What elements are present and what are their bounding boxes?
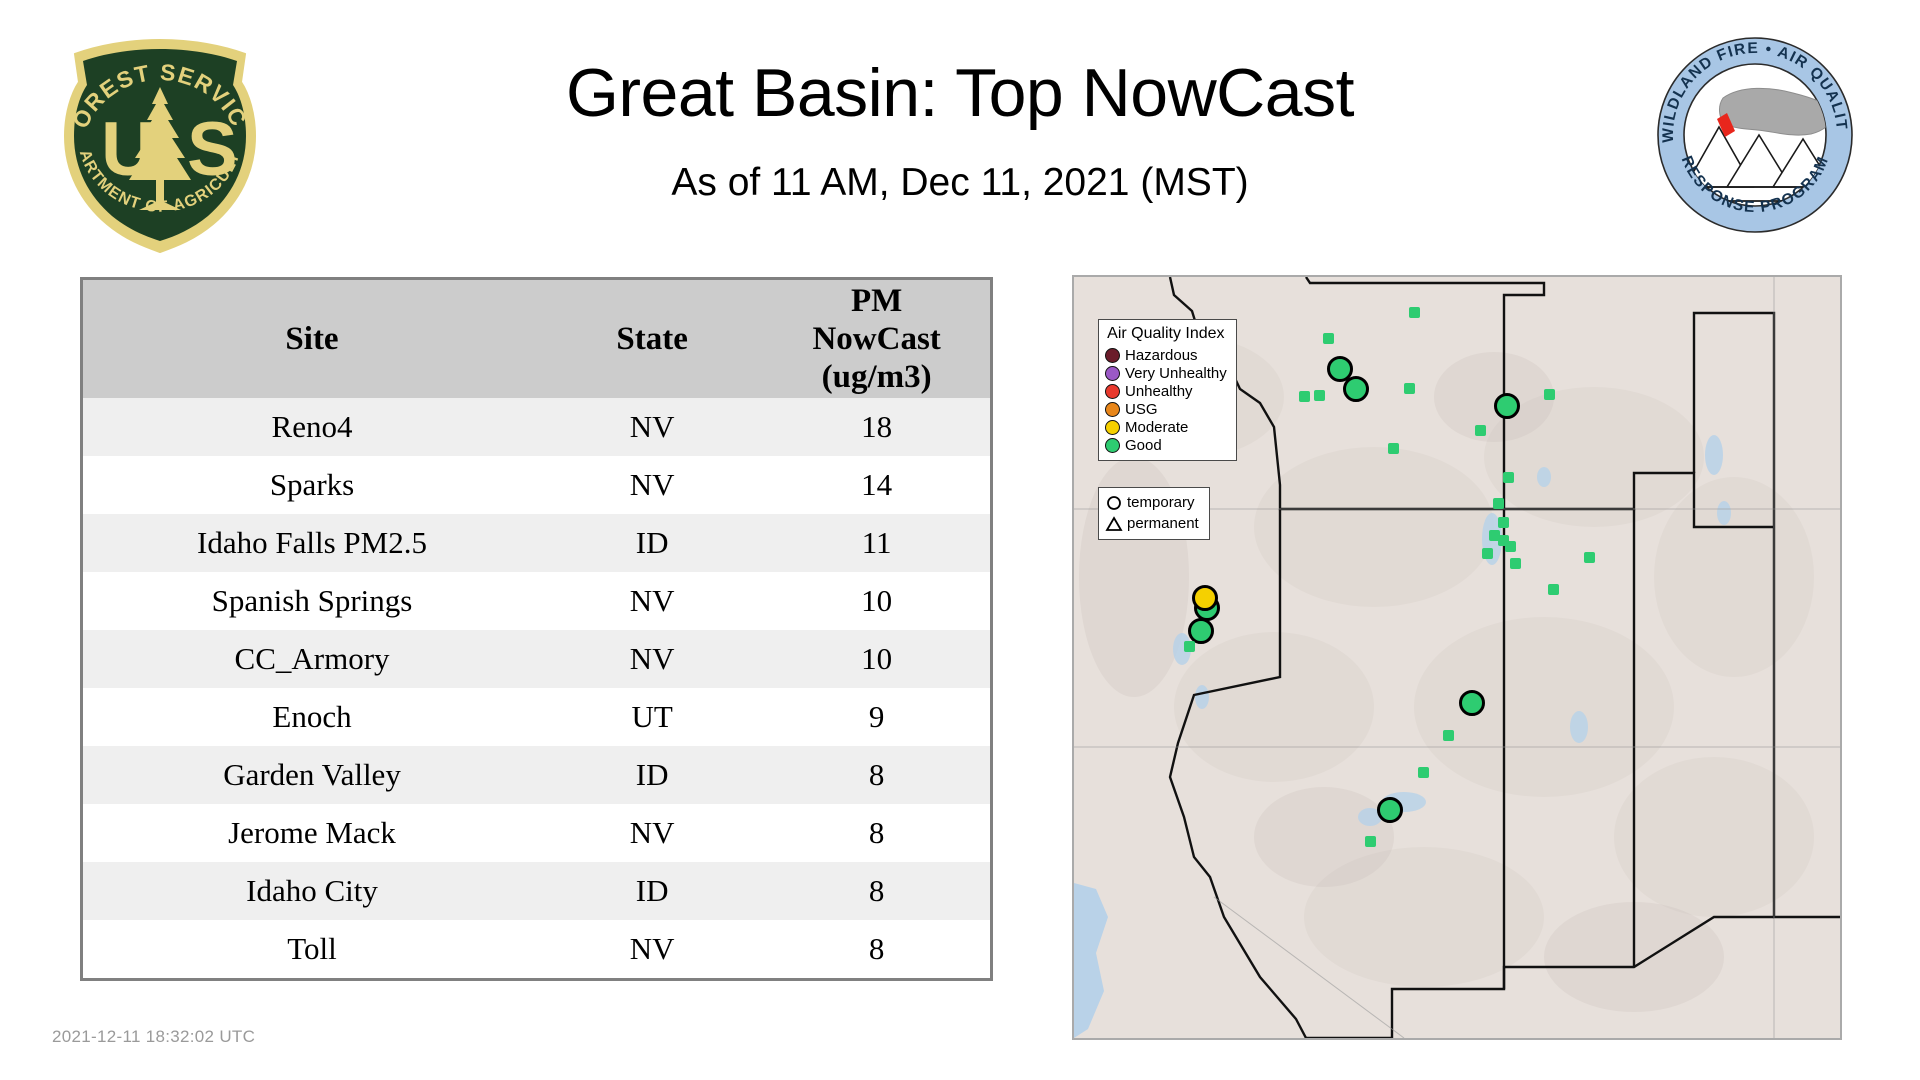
- wildland-fire-air-quality-logo: WILDLAND FIRE • AIR QUALITY RESPONSE PRO…: [1655, 35, 1855, 235]
- table-cell-state: ID: [541, 862, 763, 920]
- aqi-legend-row: Very Unhealthy: [1105, 364, 1227, 382]
- map-monitor-marker[interactable]: [1503, 472, 1514, 483]
- map-monitor-marker[interactable]: [1494, 393, 1520, 419]
- map-monitor-marker[interactable]: [1498, 517, 1509, 528]
- table-cell-state: NV: [541, 572, 763, 630]
- column-header-site: Site: [83, 280, 541, 398]
- table-cell-state: ID: [541, 514, 763, 572]
- table-cell-site: Sparks: [83, 456, 541, 514]
- column-header-state: State: [541, 280, 763, 398]
- table-body: Reno4NV18SparksNV14Idaho Falls PM2.5ID11…: [83, 398, 990, 978]
- map-monitor-marker[interactable]: [1475, 425, 1486, 436]
- map-monitor-marker[interactable]: [1377, 797, 1403, 823]
- aqi-swatch-icon: [1105, 420, 1120, 435]
- aqi-swatch-icon: [1105, 384, 1120, 399]
- table-header: Site State PM NowCast (ug/m3): [83, 280, 990, 398]
- table-cell-site: CC_Armory: [83, 630, 541, 688]
- aqi-legend-label: Hazardous: [1125, 348, 1198, 363]
- map-monitor-marker[interactable]: [1548, 584, 1559, 595]
- table-row: Idaho CityID8: [83, 862, 990, 920]
- aqi-swatch-icon: [1105, 438, 1120, 453]
- table-cell-pm: 8: [763, 804, 990, 862]
- map-monitor-marker[interactable]: [1365, 836, 1376, 847]
- table-cell-state: NV: [541, 630, 763, 688]
- map-monitor-marker[interactable]: [1184, 641, 1195, 652]
- table-row: EnochUT9: [83, 688, 990, 746]
- table-cell-state: NV: [541, 804, 763, 862]
- map-monitor-marker[interactable]: [1482, 548, 1493, 559]
- generation-timestamp: 2021-12-11 18:32:02 UTC: [52, 1027, 255, 1047]
- table-cell-site: Jerome Mack: [83, 804, 541, 862]
- table-cell-state: ID: [541, 746, 763, 804]
- aqi-legend-row: Unhealthy: [1105, 382, 1227, 400]
- marker-legend-row-temporary: temporary: [1105, 492, 1199, 513]
- table-cell-pm: 10: [763, 572, 990, 630]
- page-title: Great Basin: Top NowCast: [280, 50, 1640, 136]
- map-monitor-marker[interactable]: [1343, 376, 1369, 402]
- table-cell-pm: 11: [763, 514, 990, 572]
- marker-legend-label-permanent: permanent: [1127, 516, 1199, 531]
- aqi-legend-row: Hazardous: [1105, 346, 1227, 364]
- page-subtitle: As of 11 AM, Dec 11, 2021 (MST): [280, 156, 1640, 210]
- table-cell-site: Idaho City: [83, 862, 541, 920]
- aqi-legend: Air Quality Index HazardousVery Unhealth…: [1098, 319, 1237, 461]
- aqi-legend-row: Moderate: [1105, 418, 1227, 436]
- map-monitor-marker[interactable]: [1505, 541, 1516, 552]
- map-monitor-marker[interactable]: [1299, 391, 1310, 402]
- map-monitor-marker[interactable]: [1459, 690, 1485, 716]
- pm-header-line-1: PM: [763, 282, 990, 320]
- forest-service-logo: FOREST SERVICE U S DEPARTMENT OF AGRICUL…: [55, 32, 265, 257]
- air-quality-map[interactable]: Air Quality Index HazardousVery Unhealth…: [1072, 275, 1842, 1040]
- aqi-legend-label: Good: [1125, 438, 1162, 453]
- nowcast-table: Site State PM NowCast (ug/m3) Reno4NV18S…: [83, 280, 990, 978]
- circle-icon: [1105, 494, 1123, 512]
- marker-type-legend: temporary permanent: [1098, 487, 1210, 540]
- map-monitor-marker[interactable]: [1584, 552, 1595, 563]
- slide-canvas: FOREST SERVICE U S DEPARTMENT OF AGRICUL…: [0, 0, 1920, 1080]
- aqi-legend-title: Air Quality Index: [1105, 325, 1227, 343]
- table-row: Idaho Falls PM2.5ID11: [83, 514, 990, 572]
- table-row: Spanish SpringsNV10: [83, 572, 990, 630]
- table-cell-pm: 8: [763, 862, 990, 920]
- aqi-swatch-icon: [1105, 366, 1120, 381]
- aqi-legend-label: Very Unhealthy: [1125, 366, 1227, 381]
- table-header-row: Site State PM NowCast (ug/m3): [83, 280, 990, 398]
- map-monitor-marker[interactable]: [1323, 333, 1334, 344]
- table-cell-pm: 18: [763, 398, 990, 456]
- aqi-legend-row: USG: [1105, 400, 1227, 418]
- table-cell-site: Reno4: [83, 398, 541, 456]
- table-row: SparksNV14: [83, 456, 990, 514]
- aqi-swatch-icon: [1105, 402, 1120, 417]
- table-row: CC_ArmoryNV10: [83, 630, 990, 688]
- map-monitor-marker[interactable]: [1443, 730, 1454, 741]
- map-monitor-marker[interactable]: [1544, 389, 1555, 400]
- table-row: Reno4NV18: [83, 398, 990, 456]
- table-cell-site: Enoch: [83, 688, 541, 746]
- table-cell-site: Spanish Springs: [83, 572, 541, 630]
- table-cell-state: UT: [541, 688, 763, 746]
- aqi-legend-row: Good: [1105, 436, 1227, 454]
- table-cell-state: NV: [541, 398, 763, 456]
- aqi-swatch-icon: [1105, 348, 1120, 363]
- table-row: TollNV8: [83, 920, 990, 978]
- nowcast-table-container: Site State PM NowCast (ug/m3) Reno4NV18S…: [80, 277, 993, 981]
- table-cell-state: NV: [541, 456, 763, 514]
- table-cell-pm: 8: [763, 920, 990, 978]
- table-cell-pm: 10: [763, 630, 990, 688]
- map-monitor-marker[interactable]: [1493, 498, 1504, 509]
- table-row: Jerome MackNV8: [83, 804, 990, 862]
- title-block: Great Basin: Top NowCast As of 11 AM, De…: [280, 50, 1640, 210]
- map-monitor-marker[interactable]: [1404, 383, 1415, 394]
- marker-legend-label-temporary: temporary: [1127, 495, 1195, 510]
- table-cell-pm: 9: [763, 688, 990, 746]
- marker-legend-row-permanent: permanent: [1105, 513, 1199, 534]
- map-monitor-marker[interactable]: [1314, 390, 1325, 401]
- table-row: Garden ValleyID8: [83, 746, 990, 804]
- aqi-legend-label: Unhealthy: [1125, 384, 1193, 399]
- table-cell-site: Garden Valley: [83, 746, 541, 804]
- map-monitor-marker[interactable]: [1510, 558, 1521, 569]
- table-cell-site: Toll: [83, 920, 541, 978]
- map-monitor-marker[interactable]: [1388, 443, 1399, 454]
- pm-header-line-2: NowCast: [763, 320, 990, 358]
- aqi-legend-label: Moderate: [1125, 420, 1188, 435]
- map-monitor-marker[interactable]: [1418, 767, 1429, 778]
- table-cell-pm: 8: [763, 746, 990, 804]
- table-cell-pm: 14: [763, 456, 990, 514]
- map-monitor-marker[interactable]: [1192, 585, 1218, 611]
- triangle-icon: [1105, 515, 1123, 533]
- pm-header-line-3: (ug/m3): [763, 358, 990, 396]
- table-cell-state: NV: [541, 920, 763, 978]
- aqi-legend-items: HazardousVery UnhealthyUnhealthyUSGModer…: [1105, 346, 1227, 454]
- column-header-pm-nowcast: PM NowCast (ug/m3): [763, 280, 990, 398]
- table-cell-site: Idaho Falls PM2.5: [83, 514, 541, 572]
- aqi-legend-label: USG: [1125, 402, 1158, 417]
- map-monitor-marker[interactable]: [1409, 307, 1420, 318]
